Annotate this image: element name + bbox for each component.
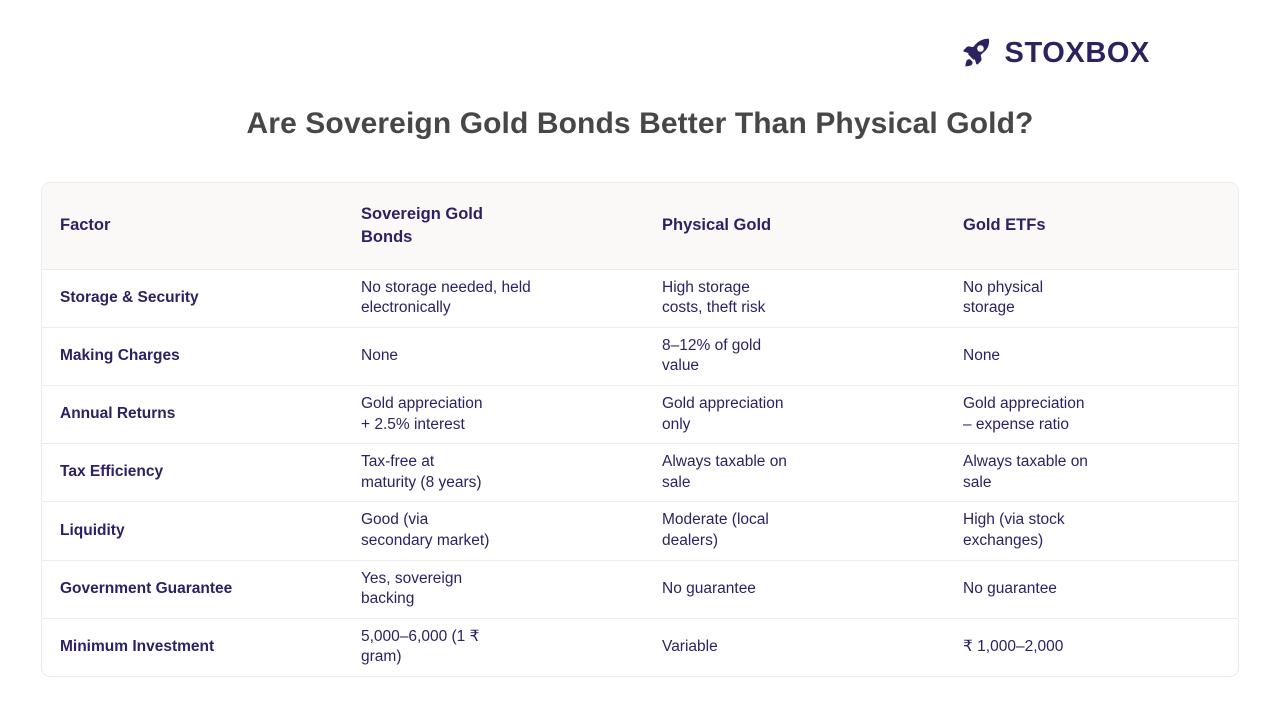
cell-line: electronically bbox=[361, 298, 626, 319]
cell-line: exchanges) bbox=[963, 531, 1222, 552]
rocket-icon bbox=[960, 36, 994, 70]
cell-line: maturity (8 years) bbox=[361, 473, 626, 494]
cell-line: secondary market) bbox=[361, 531, 626, 552]
column-header-physical-line1: Physical Gold bbox=[662, 214, 927, 237]
cell-line: Tax-free at bbox=[361, 452, 626, 473]
cell-sovereign-gold-bonds: None bbox=[343, 327, 644, 385]
cell-line: only bbox=[662, 415, 927, 436]
table-row: Government Guarantee Yes, sovereign back… bbox=[42, 560, 1239, 618]
cell-line: Moderate (local bbox=[662, 510, 927, 531]
page-root: STOXBOX Are Sovereign Gold Bonds Better … bbox=[0, 0, 1280, 717]
cell-physical-gold: Variable bbox=[644, 618, 945, 676]
cell-physical-gold: No guarantee bbox=[644, 560, 945, 618]
cell-line: Variable bbox=[662, 637, 927, 658]
cell-gold-etfs: Gold appreciation – expense ratio bbox=[945, 385, 1239, 443]
cell-line: sale bbox=[662, 473, 927, 494]
table-row: Liquidity Good (via secondary market) Mo… bbox=[42, 502, 1239, 560]
cell-line: None bbox=[361, 346, 626, 367]
page-title: Are Sovereign Gold Bonds Better Than Phy… bbox=[0, 107, 1280, 141]
column-header-sgb-line2: Bonds bbox=[361, 226, 626, 249]
cell-sovereign-gold-bonds: Yes, sovereign backing bbox=[343, 560, 644, 618]
cell-line: No physical bbox=[963, 278, 1222, 299]
brand-name: STOXBOX bbox=[1005, 39, 1150, 68]
table-row: Annual Returns Gold appreciation + 2.5% … bbox=[42, 385, 1239, 443]
cell-gold-etfs: Always taxable on sale bbox=[945, 444, 1239, 502]
cell-line: 5,000–6,000 (1 ₹ bbox=[361, 627, 626, 648]
cell-line: value bbox=[662, 356, 927, 377]
comparison-table: Factor Sovereign Gold Bonds Physical Gol… bbox=[42, 183, 1239, 676]
cell-gold-etfs: High (via stock exchanges) bbox=[945, 502, 1239, 560]
cell-line: No guarantee bbox=[662, 579, 927, 600]
cell-line: gram) bbox=[361, 647, 626, 668]
cell-line: High (via stock bbox=[963, 510, 1222, 531]
row-factor-label: Liquidity bbox=[42, 502, 343, 560]
cell-line: Always taxable on bbox=[662, 452, 927, 473]
cell-sovereign-gold-bonds: Good (via secondary market) bbox=[343, 502, 644, 560]
cell-physical-gold: Gold appreciation only bbox=[644, 385, 945, 443]
cell-sovereign-gold-bonds: Tax-free at maturity (8 years) bbox=[343, 444, 644, 502]
cell-line: dealers) bbox=[662, 531, 927, 552]
table-header: Factor Sovereign Gold Bonds Physical Gol… bbox=[42, 183, 1239, 269]
table-row: Making Charges None 8–12% of gold value bbox=[42, 327, 1239, 385]
brand-logo: STOXBOX bbox=[960, 36, 1150, 70]
cell-line: – expense ratio bbox=[963, 415, 1222, 436]
cell-physical-gold: High storage costs, theft risk bbox=[644, 269, 945, 327]
cell-line: costs, theft risk bbox=[662, 298, 927, 319]
cell-gold-etfs: ₹ 1,000–2,000 bbox=[945, 618, 1239, 676]
cell-gold-etfs: No physical storage bbox=[945, 269, 1239, 327]
row-factor-label: Making Charges bbox=[42, 327, 343, 385]
cell-sovereign-gold-bonds: 5,000–6,000 (1 ₹ gram) bbox=[343, 618, 644, 676]
column-header-factor: Factor bbox=[42, 183, 343, 269]
column-header-sgb-line1: Sovereign Gold bbox=[361, 203, 626, 226]
cell-line: Gold appreciation bbox=[963, 394, 1222, 415]
column-header-sovereign-gold-bonds: Sovereign Gold Bonds bbox=[343, 183, 644, 269]
cell-line: 8–12% of gold bbox=[662, 336, 927, 357]
cell-physical-gold: Always taxable on sale bbox=[644, 444, 945, 502]
cell-sovereign-gold-bonds: No storage needed, held electronically bbox=[343, 269, 644, 327]
column-header-gold-etfs: Gold ETFs bbox=[945, 183, 1239, 269]
column-header-etf-line1: Gold ETFs bbox=[963, 214, 1222, 237]
row-factor-label: Annual Returns bbox=[42, 385, 343, 443]
column-header-physical-gold: Physical Gold bbox=[644, 183, 945, 269]
cell-line: storage bbox=[963, 298, 1222, 319]
cell-line: Gold appreciation bbox=[361, 394, 626, 415]
column-header-factor-line1: Factor bbox=[60, 214, 325, 237]
cell-gold-etfs: No guarantee bbox=[945, 560, 1239, 618]
cell-physical-gold: Moderate (local dealers) bbox=[644, 502, 945, 560]
cell-line: No guarantee bbox=[963, 579, 1222, 600]
cell-line: Yes, sovereign bbox=[361, 569, 626, 590]
cell-line: Gold appreciation bbox=[662, 394, 927, 415]
cell-line: + 2.5% interest bbox=[361, 415, 626, 436]
comparison-table-container: Factor Sovereign Gold Bonds Physical Gol… bbox=[41, 182, 1239, 677]
row-factor-label: Tax Efficiency bbox=[42, 444, 343, 502]
row-factor-label: Storage & Security bbox=[42, 269, 343, 327]
cell-gold-etfs: None bbox=[945, 327, 1239, 385]
cell-line: backing bbox=[361, 589, 626, 610]
cell-line: Always taxable on bbox=[963, 452, 1222, 473]
cell-physical-gold: 8–12% of gold value bbox=[644, 327, 945, 385]
cell-line: sale bbox=[963, 473, 1222, 494]
cell-line: ₹ 1,000–2,000 bbox=[963, 637, 1222, 658]
table-body: Storage & Security No storage needed, he… bbox=[42, 269, 1239, 676]
cell-line: No storage needed, held bbox=[361, 278, 626, 299]
cell-line: None bbox=[963, 346, 1222, 367]
cell-sovereign-gold-bonds: Gold appreciation + 2.5% interest bbox=[343, 385, 644, 443]
cell-line: High storage bbox=[662, 278, 927, 299]
table-row: Storage & Security No storage needed, he… bbox=[42, 269, 1239, 327]
table-row: Tax Efficiency Tax-free at maturity (8 y… bbox=[42, 444, 1239, 502]
cell-line: Good (via bbox=[361, 510, 626, 531]
row-factor-label: Government Guarantee bbox=[42, 560, 343, 618]
table-row: Minimum Investment 5,000–6,000 (1 ₹ gram… bbox=[42, 618, 1239, 676]
row-factor-label: Minimum Investment bbox=[42, 618, 343, 676]
table-header-row: Factor Sovereign Gold Bonds Physical Gol… bbox=[42, 183, 1239, 269]
